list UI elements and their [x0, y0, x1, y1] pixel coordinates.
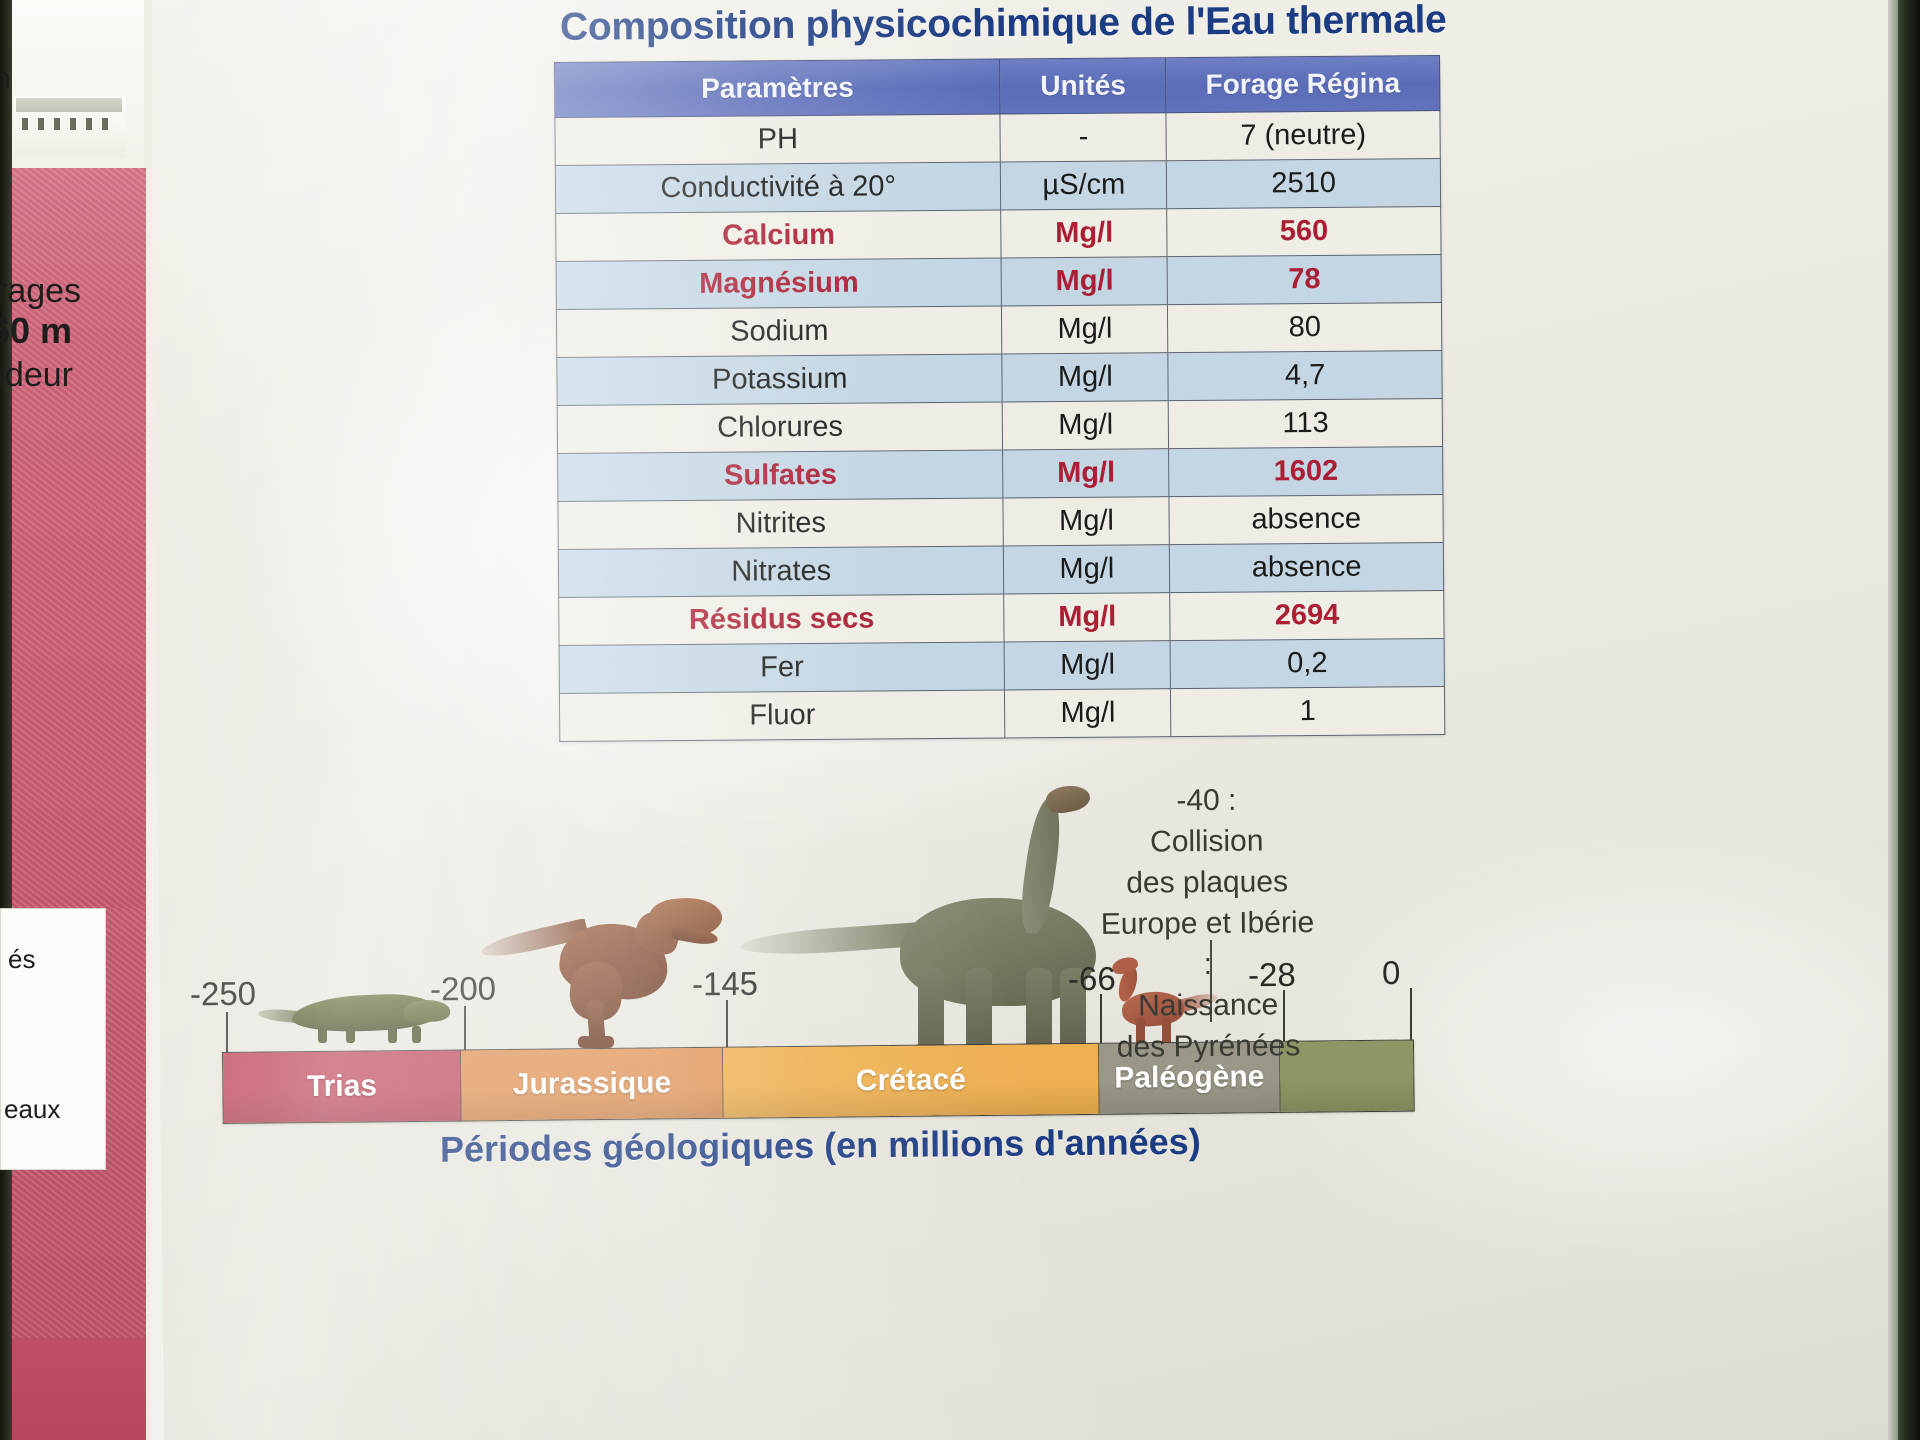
left-fragment-eaux: eaux [4, 1090, 60, 1128]
table-row: PotassiumMg/l4,7 [557, 351, 1442, 406]
timeline-label-145: -145 [692, 965, 758, 1004]
cell-unite: Mg/l [1002, 353, 1168, 402]
cell-valeur: 560 [1167, 207, 1441, 257]
cell-unite: Mg/l [1004, 545, 1170, 594]
sauropod-leg [966, 968, 992, 1056]
cell-unite: µS/cm [1001, 161, 1167, 210]
annotation-line-2: Collision [1094, 820, 1319, 863]
early-reptile-leg [388, 1026, 397, 1043]
cell-parametre: Nitrites [558, 498, 1004, 549]
cell-unite: Mg/l [1002, 305, 1168, 354]
cell-valeur: 7 (neutre) [1166, 111, 1440, 161]
building-roof [16, 98, 122, 112]
cell-valeur: 113 [1168, 399, 1442, 449]
table-row: SodiumMg/l80 [556, 303, 1441, 358]
table-row: PH-7 (neutre) [555, 111, 1440, 166]
timeline-label-250: -250 [190, 975, 256, 1014]
left-fragment-profondeur: ndeur [0, 356, 73, 394]
cell-unite: - [1000, 113, 1166, 162]
building-window [70, 118, 76, 130]
annotation-line-3: des plaques [1094, 861, 1319, 904]
panel-right-dark-edge [1898, 0, 1920, 1440]
cell-unite: Mg/l [1002, 257, 1168, 306]
cell-parametre: Chlorures [557, 402, 1003, 453]
left-fragment-es: és [8, 940, 35, 978]
left-fragment-top: n [0, 60, 11, 98]
building-window [54, 118, 60, 130]
cell-parametre: Sulfates [558, 450, 1004, 501]
left-fragment-depth: 60 m [0, 312, 72, 350]
column-header-unites: Unités [1000, 58, 1166, 114]
cell-parametre: Fer [559, 642, 1005, 693]
cell-parametre: PH [555, 114, 1001, 165]
cell-unite: Mg/l [1003, 497, 1169, 546]
cell-valeur: 1 [1171, 687, 1445, 737]
timeline-segment-jurassique: Jurassique [461, 1048, 724, 1121]
cell-valeur: 2694 [1170, 591, 1444, 641]
trex-foot [578, 1036, 614, 1048]
timeline-label-200: -200 [430, 970, 496, 1009]
table-row: ChloruresMg/l113 [557, 399, 1442, 454]
cell-parametre: Résidus secs [559, 594, 1005, 645]
table-header-row: Paramètres Unités Forage Régina [555, 56, 1440, 118]
annotation-line-1: -40 : [1094, 779, 1319, 822]
cell-unite: Mg/l [1004, 593, 1170, 642]
left-fragment-forages: rages [0, 272, 81, 310]
building-window [38, 118, 44, 130]
cell-parametre: Potassium [557, 354, 1003, 405]
timeline-label-66: -66 [1068, 960, 1116, 998]
early-reptile-leg [412, 1026, 421, 1043]
table-row: Résidus secsMg/l2694 [559, 591, 1444, 646]
timeline-segment-trias: Trias [223, 1050, 462, 1122]
cell-unite: Mg/l [1005, 641, 1171, 690]
cell-parametre: Nitrates [558, 546, 1004, 597]
cell-valeur: 4,7 [1168, 351, 1442, 401]
building-window [102, 118, 108, 130]
table-row: Conductivité à 20°µS/cm2510 [555, 159, 1440, 214]
table-row: NitritesMg/labsence [558, 495, 1443, 550]
cell-unite: Mg/l [1003, 401, 1169, 450]
table-row: NitratesMg/labsence [558, 543, 1443, 598]
early-reptile-leg [318, 1026, 327, 1043]
column-header-parametres: Paramètres [555, 59, 1001, 117]
poster-photo: n rages 60 m ndeur és eaux Composition p… [0, 0, 1920, 1440]
panel-right-bevel [1888, 0, 1898, 1440]
adjacent-panel-strip: n rages 60 m ndeur és eaux [0, 0, 152, 1440]
composition-table: Paramètres Unités Forage Régina PH-7 (ne… [554, 55, 1445, 742]
cell-parametre: Sodium [556, 306, 1002, 357]
page-title: Composition physicochimique de l'Eau the… [560, 0, 1460, 50]
building-window [86, 118, 92, 130]
cell-unite: Mg/l [1005, 689, 1171, 738]
timeline-label-0: 0 [1382, 954, 1401, 992]
cell-valeur: 80 [1168, 303, 1442, 353]
cell-valeur: absence [1170, 543, 1444, 593]
cell-parametre: Conductivité à 20° [555, 162, 1001, 213]
table-row: SulfatesMg/l1602 [558, 447, 1443, 502]
table-body: PH-7 (neutre)Conductivité à 20°µS/cm2510… [555, 111, 1445, 742]
building-window [22, 118, 28, 130]
cell-valeur: 1602 [1169, 447, 1443, 497]
cell-parametre: Magnésium [556, 258, 1002, 309]
sauropod-leg [918, 968, 944, 1056]
table-row: CalciumMg/l560 [556, 207, 1441, 262]
cell-valeur: absence [1169, 495, 1443, 545]
timeline-segment-crétacé: Crétacé [723, 1044, 1099, 1118]
cell-valeur: 0,2 [1170, 639, 1444, 689]
cell-unite: Mg/l [1001, 209, 1167, 258]
cell-parametre: Calcium [556, 210, 1002, 261]
table-row: MagnésiumMg/l78 [556, 255, 1441, 310]
early-reptile-leg [346, 1026, 355, 1043]
timeline-label-28: -28 [1248, 956, 1296, 994]
geological-cross-section-bottom [12, 1338, 146, 1440]
annotation-line-6: des Pyrénées [1096, 1025, 1321, 1068]
table-row: FluorMg/l1 [559, 687, 1444, 742]
composition-table-wrapper: Paramètres Unités Forage Régina PH-7 (ne… [554, 55, 1445, 742]
pyrenees-annotation: -40 : Collision des plaques Europe et Ib… [1094, 779, 1321, 1068]
cell-valeur: 78 [1167, 255, 1441, 305]
tick-250 [226, 1012, 228, 1056]
column-header-forage: Forage Régina [1166, 56, 1440, 113]
cell-valeur: 2510 [1167, 159, 1441, 209]
table-row: FerMg/l0,2 [559, 639, 1444, 694]
cell-parametre: Fluor [559, 690, 1005, 741]
cell-unite: Mg/l [1003, 449, 1169, 498]
